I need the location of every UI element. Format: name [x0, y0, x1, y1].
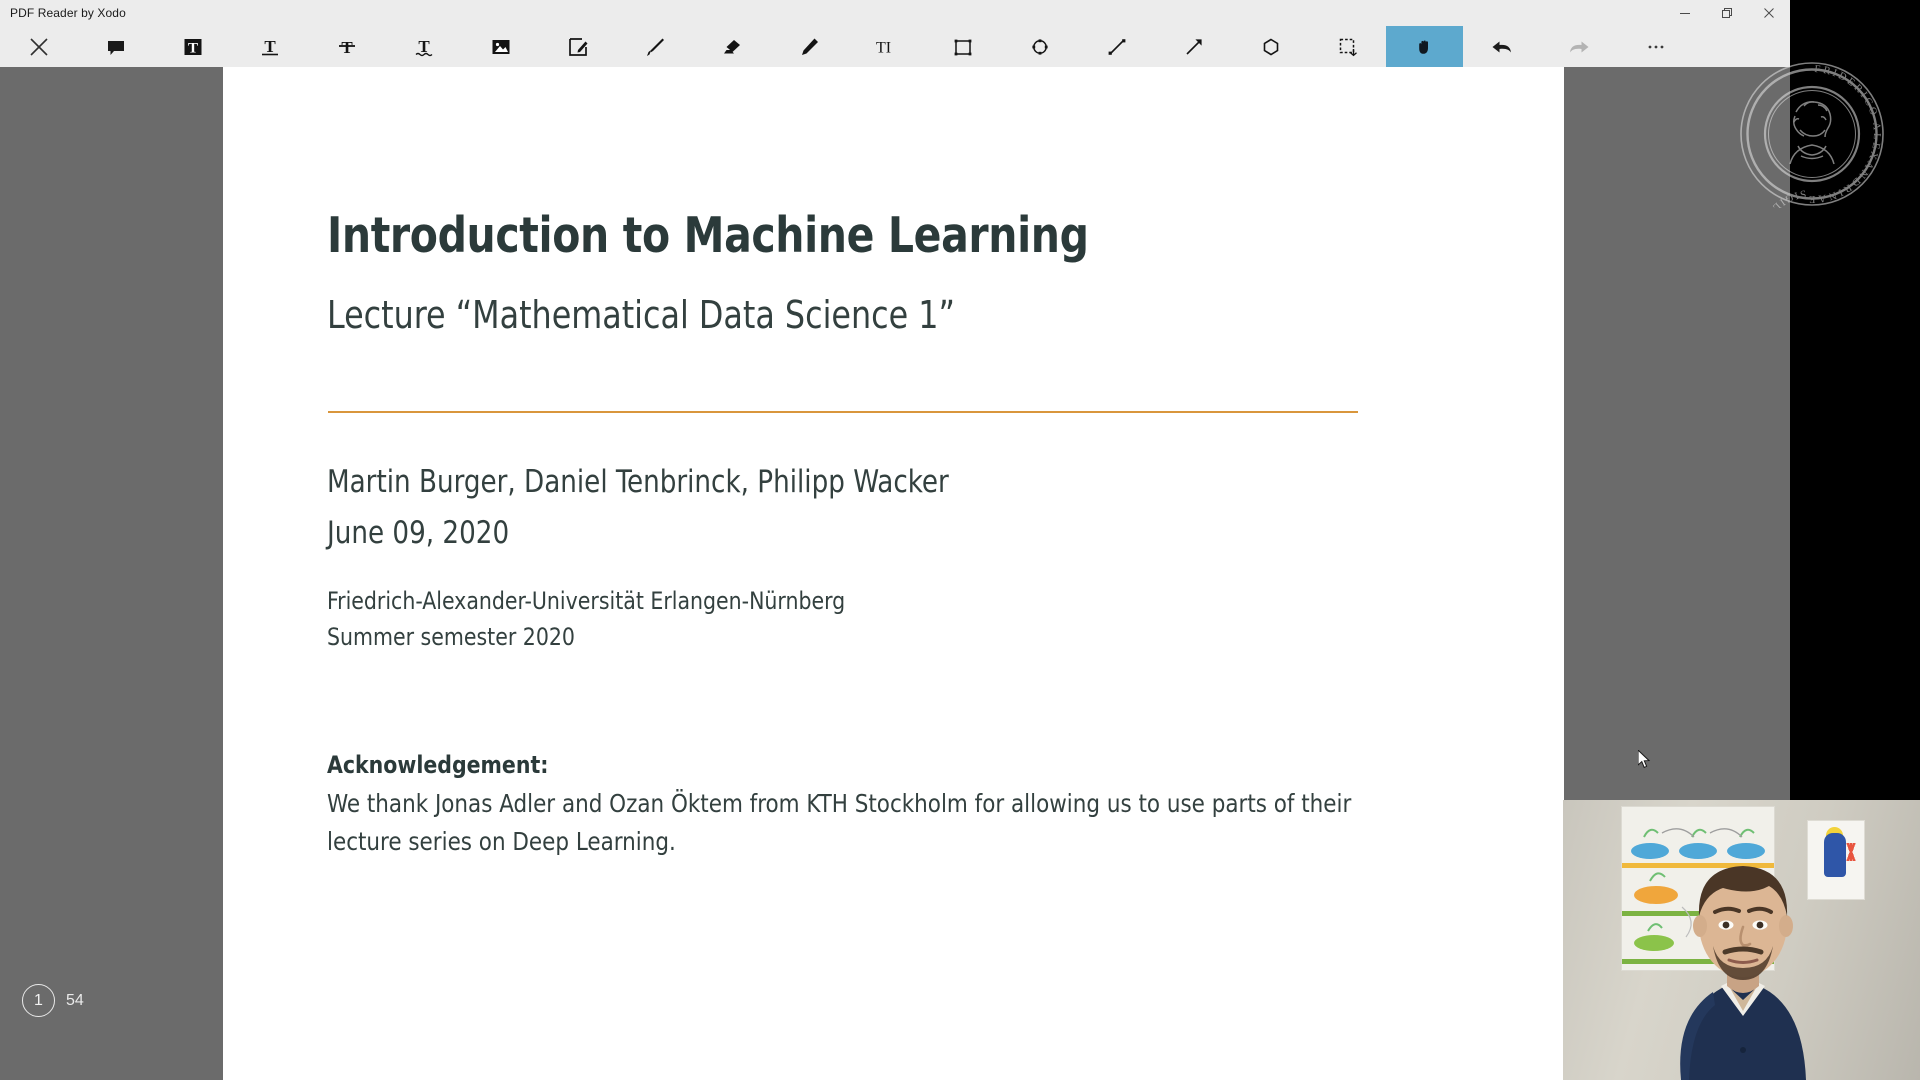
svg-text:T: T — [341, 38, 353, 57]
signature-icon — [567, 36, 589, 58]
slide-authors: Martin Burger, Daniel Tenbrinck, Philipp… — [327, 464, 949, 500]
svg-text:FRIDERICO ALEXANDRINAE: FRIDERICO ALEXANDRINAE — [1806, 64, 1882, 204]
svg-text:T: T — [264, 37, 276, 56]
app-title: PDF Reader by Xodo — [10, 6, 126, 20]
text-strikeout-icon: T — [336, 36, 358, 58]
eraser-button[interactable] — [693, 26, 770, 67]
slide-institute: Friedrich-Alexander-Universität Erlangen… — [327, 587, 845, 615]
ellipse-button[interactable] — [1001, 26, 1078, 67]
text-squiggly-icon: T — [413, 36, 435, 58]
title-bar: PDF Reader by Xodo — [0, 0, 1790, 26]
current-page-badge[interactable]: 1 — [22, 984, 55, 1017]
slide-semester: Summer semester 2020 — [327, 623, 575, 651]
free-text-button[interactable]: TI — [847, 26, 924, 67]
presenter-person — [1563, 800, 1920, 1080]
arrow-icon — [1183, 36, 1205, 58]
undo-arrow-icon — [1490, 36, 1514, 58]
arrow-button[interactable] — [1155, 26, 1232, 67]
brush-icon — [644, 36, 666, 58]
pdf-reader-window: PDF Reader by Xodo — [0, 0, 1790, 1080]
title-rule-divider — [328, 411, 1358, 413]
text-squiggly-button[interactable]: T — [385, 26, 462, 67]
svg-text:T: T — [187, 40, 197, 56]
slide-date: June 09, 2020 — [327, 515, 509, 551]
marquee-select-icon — [1337, 36, 1359, 58]
maximize-restore-button[interactable] — [1706, 0, 1748, 26]
line-button[interactable] — [1078, 26, 1155, 67]
slide-content: Introduction to Machine Learning Lecture… — [327, 67, 1467, 1080]
pdf-page[interactable]: Introduction to Machine Learning Lecture… — [223, 67, 1564, 1080]
page-indicator[interactable]: 1 54 — [22, 984, 84, 1017]
acknowledgement-heading: Acknowledgement: — [327, 751, 548, 779]
free-text-icon: TI — [873, 36, 899, 58]
image-icon — [490, 36, 512, 58]
text-highlight-button[interactable]: T — [154, 26, 231, 67]
rectangle-button[interactable] — [924, 26, 1001, 67]
polygon-button[interactable] — [1232, 26, 1309, 67]
svg-text:T: T — [418, 37, 430, 56]
insert-image-button[interactable] — [462, 26, 539, 67]
pencil-icon — [798, 36, 820, 58]
document-viewport[interactable]: Introduction to Machine Learning Lecture… — [0, 67, 1790, 1080]
redo-arrow-icon — [1567, 36, 1591, 58]
polygon-icon — [1260, 36, 1282, 58]
hand-icon — [1415, 37, 1435, 57]
acknowledgement-line-2: lecture series on Deep Learning. — [327, 827, 676, 856]
sticky-note-button[interactable] — [77, 26, 154, 67]
text-underline-button[interactable]: T — [231, 26, 308, 67]
redo-button[interactable] — [1540, 26, 1617, 67]
undo-button[interactable] — [1463, 26, 1540, 67]
svg-text:TI: TI — [876, 39, 891, 56]
pan-hand-button[interactable] — [1386, 26, 1463, 67]
text-highlight-icon: T — [182, 36, 204, 58]
acknowledgement-line-1: We thank Jonas Adler and Ozan Öktem from… — [327, 789, 1351, 818]
circle-icon — [1029, 36, 1051, 58]
area-select-button[interactable] — [1309, 26, 1386, 67]
text-strikeout-button[interactable]: T — [308, 26, 385, 67]
slide-title: Introduction to Machine Learning — [327, 207, 1089, 264]
slide-subtitle: Lecture “Mathematical Data Science 1” — [327, 293, 955, 337]
presenter-webcam-feed[interactable] — [1563, 800, 1920, 1080]
comment-bubble-icon — [105, 36, 127, 58]
more-options-button[interactable] — [1617, 26, 1694, 67]
close-x-icon — [28, 36, 50, 58]
square-icon — [952, 36, 974, 58]
window-controls — [1664, 0, 1790, 26]
close-annotations-button[interactable] — [0, 26, 77, 67]
annotation-toolbar: T T T — [0, 26, 1790, 68]
minimize-button[interactable] — [1664, 0, 1706, 26]
more-ellipsis-icon — [1645, 36, 1667, 58]
pencil-button[interactable] — [770, 26, 847, 67]
free-draw-button[interactable] — [616, 26, 693, 67]
screen: PDF Reader by Xodo — [0, 0, 1920, 1080]
close-button[interactable] — [1748, 0, 1790, 26]
signature-button[interactable] — [539, 26, 616, 67]
total-pages-label: 54 — [66, 992, 84, 1010]
line-icon — [1106, 36, 1128, 58]
text-underline-icon: T — [259, 36, 281, 58]
eraser-icon — [721, 36, 743, 58]
